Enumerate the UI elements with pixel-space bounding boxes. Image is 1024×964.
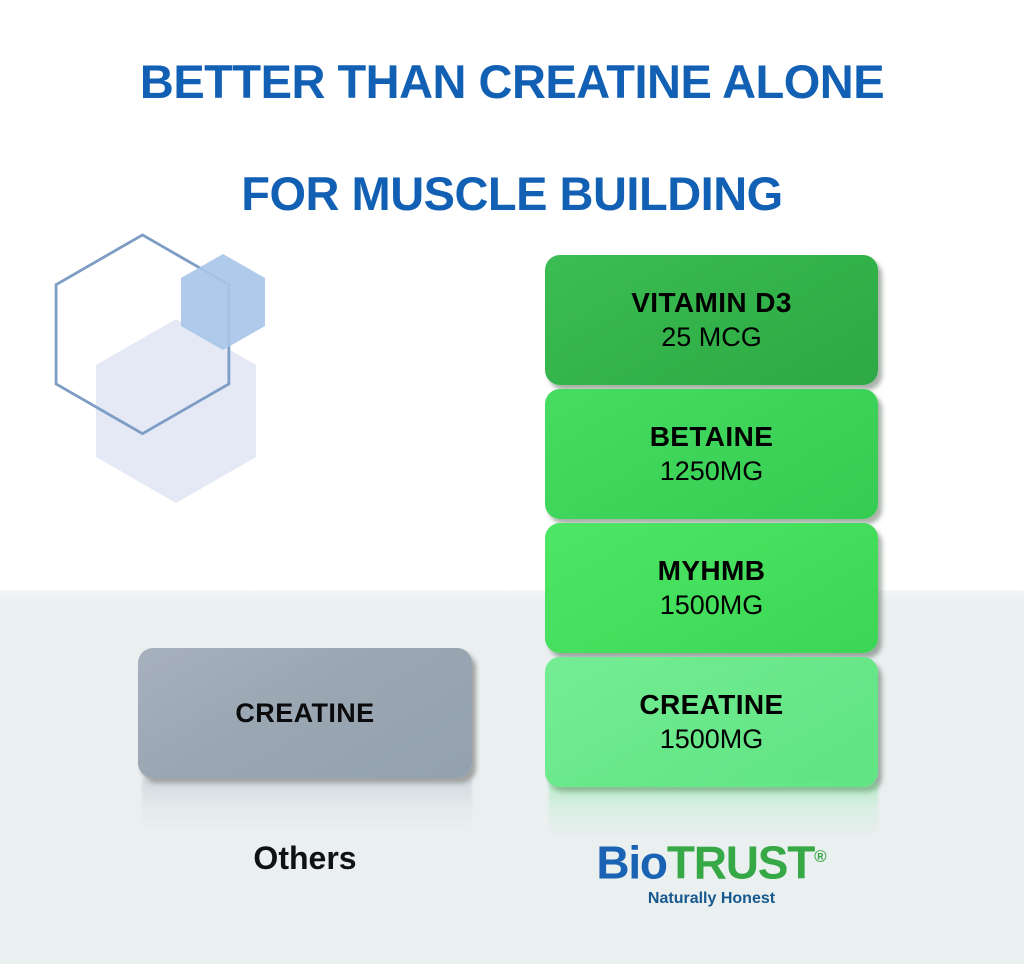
hexagon-decoration-group: [28, 222, 298, 542]
infographic-canvas: BETTER THAN CREATINE ALONE FOR MUSCLE BU…: [0, 0, 1024, 964]
ingredient-dose: 1500MG: [660, 722, 764, 756]
ingredient-dose: 1250MG: [660, 454, 764, 488]
logo-bio-text: Bio: [596, 836, 667, 888]
biotrust-logo: BioTRUST® Naturally Honest: [545, 832, 878, 910]
title-line-1: BETTER THAN CREATINE ALONE: [0, 54, 1024, 110]
ingredient-name: CREATINE: [639, 688, 783, 722]
logo-wordmark: BioTRUST®: [545, 832, 878, 887]
biotrust-ingredient-stack: VITAMIN D3 25 MCG BETAINE 1250MG MYHMB 1…: [545, 255, 878, 791]
ingredient-box-betaine: BETAINE 1250MG: [545, 389, 878, 519]
hexagon-filled-large: [96, 319, 256, 503]
ingredient-name: BETAINE: [650, 420, 774, 454]
ingredient-dose: 1500MG: [660, 588, 764, 622]
ingredient-box-creatine: CREATINE 1500MG: [545, 657, 878, 787]
ingredient-name: MYHMB: [658, 554, 766, 588]
ingredient-box-vitamin-d3: VITAMIN D3 25 MCG: [545, 255, 878, 385]
ingredient-stack-reflection: [549, 782, 878, 838]
ingredient-box-myhmb: MYHMB 1500MG: [545, 523, 878, 653]
others-creatine-box: CREATINE: [138, 648, 472, 778]
title-line-2: FOR MUSCLE BUILDING: [0, 166, 1024, 222]
ingredient-dose: 25 MCG: [661, 320, 762, 354]
others-creatine-label: CREATINE: [235, 698, 374, 729]
logo-tagline: Naturally Honest: [545, 888, 878, 910]
others-caption: Others: [138, 840, 472, 877]
registered-trademark-icon: ®: [814, 847, 827, 866]
others-box-reflection: [142, 780, 472, 832]
ingredient-name: VITAMIN D3: [631, 286, 792, 320]
logo-trust-text: TRUST: [667, 836, 814, 888]
